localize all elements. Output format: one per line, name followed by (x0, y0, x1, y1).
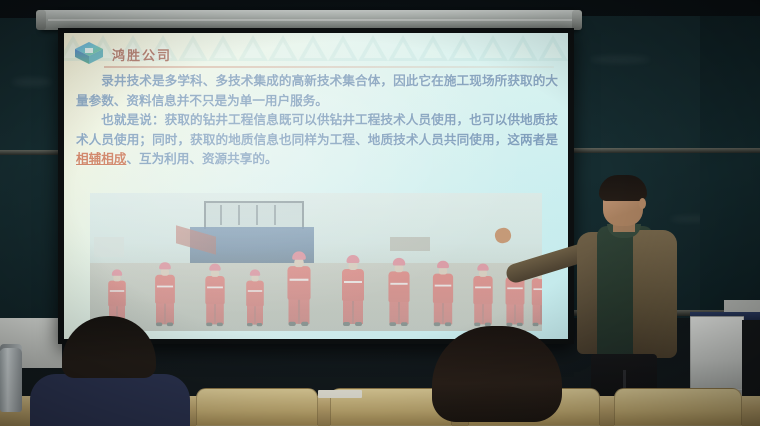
worker-reflective-stripe (390, 283, 407, 285)
student-right-hair (432, 326, 562, 422)
worker-head (251, 275, 258, 281)
worker-safety-helmet (347, 255, 360, 263)
worker-reflective-stripe (110, 290, 124, 292)
highlighted-phrase: 相辅相成 (76, 151, 126, 166)
roller-cap-left (36, 10, 46, 30)
paper-sheet-1 (318, 390, 362, 398)
worker-safety-helmet (393, 258, 405, 266)
worker-safety-helmet (437, 261, 449, 268)
slide-title-divider (104, 66, 554, 68)
lecturer-hair (599, 175, 647, 201)
worker-coverall (433, 274, 453, 303)
photo-site-hut-far (390, 237, 430, 251)
classroom-presentation-screenshot: 鸿胜公司 录井技术是多学科、多技术集成的高新技术集合体，因此它在施工现场所获取的… (0, 0, 760, 426)
lecturer-ear (639, 198, 646, 209)
student-left-sweater (30, 374, 190, 426)
worker-coverall (205, 276, 224, 304)
audience-foreground (0, 306, 760, 426)
worker-coverall (342, 269, 364, 301)
paragraph-1-text: 录井技术是多学科、多技术集成的高新技术集合体，因此它在施工现场所获取的大量参数、… (76, 73, 558, 108)
rig-derrick (204, 201, 304, 229)
worker-reflective-stripe (207, 287, 223, 289)
worker-safety-helmet (112, 269, 122, 275)
worker-reflective-stripe (533, 288, 542, 290)
student-left-hair (62, 316, 156, 378)
worker-safety-helmet (159, 262, 171, 269)
blackboard-far-right (700, 16, 760, 318)
worker-head (395, 265, 404, 273)
worker-safety-helmet (477, 264, 488, 271)
worker-safety-helmet (250, 269, 260, 275)
worker-safety-helmet (292, 251, 306, 259)
chair-back-4 (614, 388, 742, 426)
student-right (432, 326, 562, 426)
worker-head (113, 275, 120, 281)
worker-reflective-stripe (475, 287, 491, 289)
slide-title: 鸿胜公司 (112, 45, 172, 64)
slide-paragraph-2: 也就是说：获取的钻井工程信息既可以供钻井工程技术人员使用，也可以供地质技术人员使… (76, 110, 558, 169)
slide-header: 鸿胜公司 (74, 39, 558, 69)
roller-seam (48, 19, 572, 21)
honsheng-cube-logo-icon (74, 40, 104, 68)
worker-coverall (108, 281, 126, 307)
worker-head (211, 270, 219, 277)
worker-reflective-stripe (507, 287, 522, 289)
worker-coverall (532, 278, 542, 305)
slide-body-text: 录井技术是多学科、多技术集成的高新技术集合体，因此它在施工现场所获取的大量参数、… (76, 71, 558, 169)
thermos-flask (0, 348, 22, 412)
worker-coverall (473, 276, 492, 304)
worker-reflective-stripe (157, 286, 173, 288)
worker-head (439, 267, 447, 274)
worker-safety-helmet (209, 264, 220, 271)
worker-coverall (388, 271, 409, 302)
powerpoint-slide: 鸿胜公司 录井技术是多学科、多技术集成的高新技术集合体，因此它在施工现场所获取的… (64, 33, 568, 339)
chair-back-1 (196, 388, 318, 426)
worker-reflective-stripe (344, 281, 362, 283)
worker-coverall (246, 281, 264, 307)
roller-cap-right (572, 10, 582, 30)
projection-screen: 鸿胜公司 录井技术是多学科、多技术集成的高新技术集合体，因此它在施工现场所获取的… (58, 28, 574, 344)
student-left (30, 316, 190, 426)
worker-head (349, 262, 358, 270)
worker-head (294, 259, 303, 267)
paragraph-2-text-before: 也就是说：获取的钻井工程信息既可以供钻井工程技术人员使用，也可以供地质技术人员使… (76, 112, 558, 147)
worker-reflective-stripe (435, 285, 452, 287)
worker-reflective-stripe (248, 290, 262, 292)
worker-head (161, 269, 169, 276)
worker-reflective-stripe (290, 279, 309, 281)
slide-paragraph-1: 录井技术是多学科、多技术集成的高新技术集合体，因此它在施工现场所获取的大量参数、… (76, 71, 558, 110)
worker-coverall (155, 275, 175, 304)
worker-coverall (287, 266, 310, 300)
chalk-rail-right (560, 148, 760, 153)
worker-head (479, 270, 487, 277)
photo-site-hut (94, 237, 124, 257)
paragraph-2-text-after: 、互为利用、资源共享的。 (126, 151, 277, 166)
